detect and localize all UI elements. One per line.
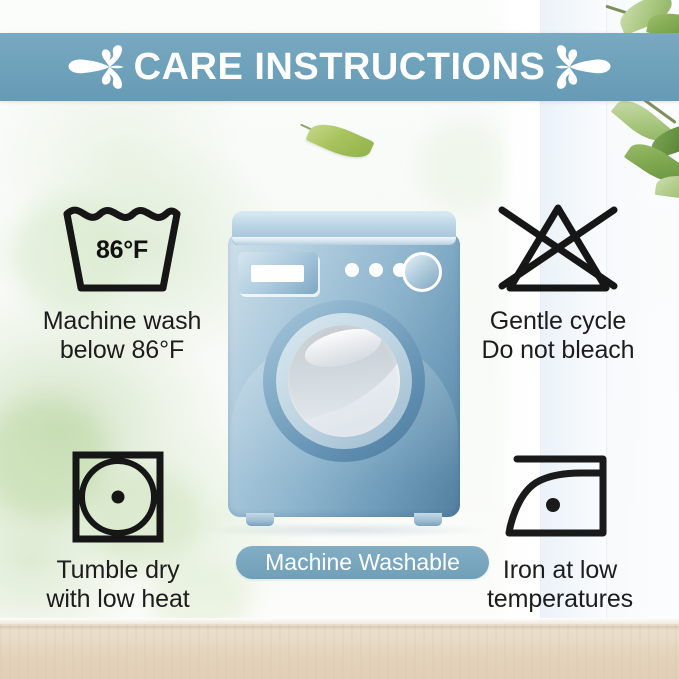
triangle-crossed-out-icon <box>478 196 638 300</box>
care-item-label: Iron at low temperatures <box>487 556 633 614</box>
washer-door-ring-outer <box>263 300 425 462</box>
care-item-label: Gentle cycle Do not bleach <box>482 307 635 365</box>
care-item-machine-wash: 86°F Machine wash below 86°F <box>12 196 232 365</box>
washer-top-lip <box>232 237 456 245</box>
wash-temperature-value: 86°F <box>96 236 148 265</box>
fleur-de-lis-leaf-ornament-right <box>551 44 613 90</box>
indicator-light <box>369 263 383 277</box>
detergent-drawer-slot <box>251 265 304 282</box>
washing-machine-illustration <box>228 211 460 524</box>
control-indicator-lights <box>345 263 407 277</box>
care-instructions-infographic: CARE INSTRUCTIONS 86°F Machine wash belo… <box>0 0 679 679</box>
indicator-light <box>345 263 359 277</box>
tumble-dry-low-icon <box>66 445 170 549</box>
iron-low-heat-icon <box>495 445 625 549</box>
machine-washable-badge: Machine Washable <box>236 546 489 579</box>
washing-machine-shadow <box>200 522 490 538</box>
care-item-label: Machine wash below 86°F <box>43 307 202 365</box>
program-dial <box>402 252 442 292</box>
care-item-gentle-cycle-no-bleach: Gentle cycle Do not bleach <box>448 196 668 365</box>
washer-foot <box>246 513 274 526</box>
header-banner: CARE INSTRUCTIONS <box>0 33 679 101</box>
page-title: CARE INSTRUCTIONS <box>128 48 552 86</box>
wash-tub-icon: 86°F <box>47 196 197 300</box>
fleur-de-lis-leaf-ornament-left <box>66 44 128 90</box>
badge-label: Machine Washable <box>265 551 460 574</box>
washer-door-glass <box>288 325 400 437</box>
detergent-drawer <box>238 252 318 294</box>
washer-foot <box>414 513 442 526</box>
care-item-label: Tumble dry with low heat <box>46 556 189 614</box>
care-item-tumble-dry: Tumble dry with low heat <box>8 445 228 614</box>
table-contact-shadow <box>0 626 679 630</box>
washer-door-ring-inner <box>276 313 412 449</box>
wooden-table-surface <box>0 624 679 679</box>
